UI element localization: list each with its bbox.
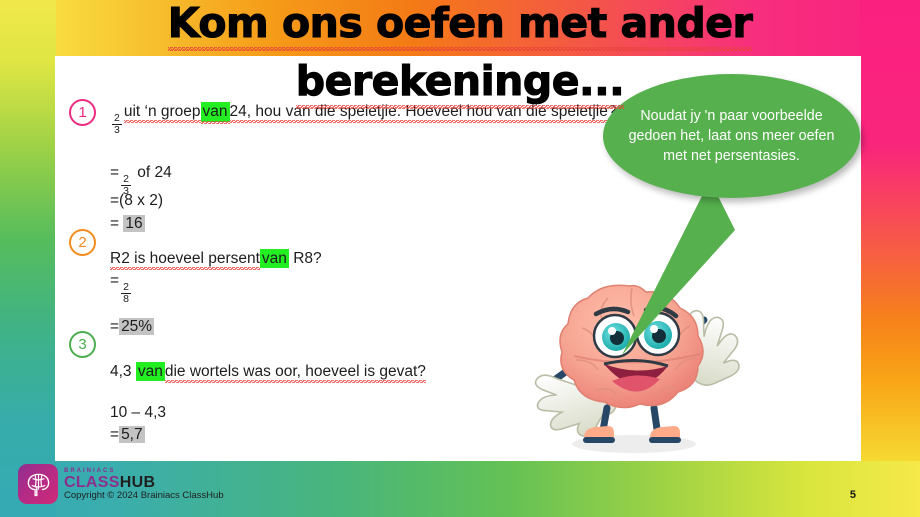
- question-2-text-b: R8?: [289, 250, 322, 267]
- highlight-van-2: van: [260, 249, 289, 268]
- fraction-numerator: 2: [121, 282, 131, 293]
- step-operator: =: [110, 272, 119, 289]
- answer-25-percent: 25%: [119, 318, 154, 335]
- gradient-border-right: [860, 0, 920, 517]
- speech-bubble-tail: [600, 170, 740, 370]
- step-operator: =(8 x 2): [110, 192, 163, 209]
- question-3-step-1: 10 – 4,3: [110, 404, 166, 422]
- brand-wordmark: BRAINIACS CLASSHUB: [64, 468, 155, 491]
- step-operator: =: [110, 426, 119, 443]
- question-marker-3-label: 3: [78, 336, 86, 353]
- question-3-text-a: 4,3: [110, 363, 136, 380]
- slide-canvas: 1 2 3 uit ‘n groep van 24, hou van die s…: [0, 0, 920, 517]
- copyright-text: Copyright © 2024 Brainiacs ClassHub: [64, 490, 224, 501]
- question-2-step-1: = 2 8: [110, 272, 133, 305]
- step-operator: =: [110, 215, 123, 232]
- step-operator: =: [110, 318, 119, 335]
- brand-hub-label: HUB: [120, 474, 156, 491]
- question-marker-3: 3: [69, 331, 96, 358]
- question-2-prompt: R2 is hoeveel persent van R8?: [110, 250, 322, 268]
- fraction-denominator: 8: [121, 293, 131, 305]
- question-3-step-2: =5,7: [110, 426, 145, 444]
- question-1-step-3: = 16: [110, 215, 145, 233]
- answer-16: 16: [123, 215, 144, 232]
- answer-5-7: 5,7: [119, 426, 145, 443]
- page-title: Kom ons oefen met anderberekeninge...: [60, 0, 860, 110]
- step-operator: =: [110, 164, 119, 181]
- question-marker-2: 2: [69, 229, 96, 256]
- brain-logo-icon: [25, 471, 52, 498]
- fraction-two-thirds: 2 3: [112, 113, 122, 136]
- question-2-text-a: R2 is hoeveel persent: [110, 250, 260, 268]
- question-3-prompt: 4,3 van die wortels was oor, hoeveel is …: [110, 363, 426, 381]
- fraction-denominator: 3: [112, 124, 122, 136]
- page-number: 5: [850, 489, 856, 501]
- brand-class-label: CLASS: [64, 474, 120, 491]
- brand-main-label: CLASSHUB: [64, 475, 155, 491]
- page-title-line-1: Kom ons oefen met ander: [168, 0, 752, 52]
- gradient-border-left: [0, 0, 56, 517]
- brainiacs-logo: [18, 464, 58, 504]
- highlight-van-3: van: [136, 362, 165, 381]
- step-suffix: of 24: [133, 164, 172, 181]
- page-title-line-2: berekeninge...: [296, 52, 624, 110]
- step-operator: 10 – 4,3: [110, 404, 166, 421]
- question-1-step-2: =(8 x 2): [110, 192, 163, 210]
- fraction-numerator: 2: [121, 174, 131, 185]
- fraction-numerator: 2: [112, 113, 122, 124]
- question-marker-2-label: 2: [78, 234, 86, 251]
- speech-bubble-text: Noudat jy 'n paar voorbeelde gedoen het,…: [625, 106, 838, 166]
- question-2-step-2: =25%: [110, 318, 154, 336]
- question-3-text-b: die wortels was oor, hoeveel is gevat?: [165, 363, 426, 381]
- fraction-two-eighths: 2 8: [121, 282, 131, 305]
